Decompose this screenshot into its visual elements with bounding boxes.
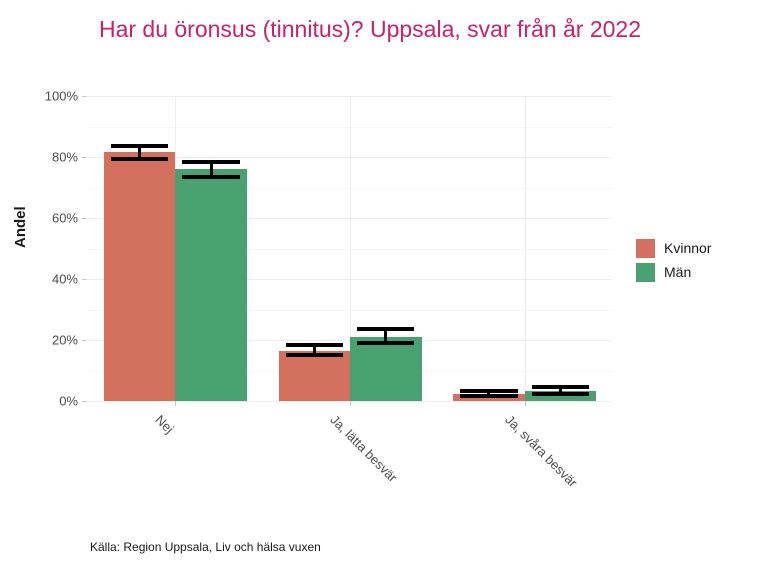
chart-container: Har du öronsus (tinnitus)? Uppsala, svar… (0, 0, 768, 576)
error-bar-cap-upper (532, 385, 589, 389)
chart-legend: Kvinnor Män (636, 236, 711, 284)
error-bar-cap-upper (286, 343, 343, 347)
legend-swatch-kvinnor (636, 239, 655, 258)
gridline-vertical (525, 96, 526, 401)
y-axis-tick-mark (82, 96, 87, 97)
bar[interactable] (279, 351, 351, 401)
error-bar-cap-lower (286, 353, 343, 357)
y-axis-tick-mark (82, 340, 87, 341)
y-axis-tick-label: 40% (18, 272, 78, 287)
error-bar-cap-upper (357, 327, 414, 331)
error-bar-cap-upper (111, 144, 168, 148)
plot-area (88, 96, 612, 401)
x-axis-tick-mark (350, 401, 351, 406)
error-bar-cap-lower (532, 392, 589, 396)
legend-label-man: Män (664, 264, 691, 280)
error-bar-cap-lower (111, 157, 168, 161)
x-axis-tick-label: Ja, lätta besvär (327, 412, 400, 485)
source-caption: Källa: Region Uppsala, Liv och hälsa vux… (90, 540, 321, 554)
y-axis-tick-label: 100% (18, 89, 78, 104)
bar[interactable] (350, 337, 422, 401)
error-bar-cap-lower (182, 175, 239, 179)
y-axis-tick-label: 0% (18, 394, 78, 409)
legend-item-kvinnor[interactable]: Kvinnor (636, 236, 711, 260)
chart-title: Har du öronsus (tinnitus)? Uppsala, svar… (40, 14, 700, 45)
legend-item-man[interactable]: Män (636, 260, 711, 284)
error-bar-cap-upper (182, 160, 239, 164)
legend-label-kvinnor: Kvinnor (664, 240, 711, 256)
bar[interactable] (104, 152, 176, 401)
y-axis-tick-mark (82, 157, 87, 158)
error-bar-cap-lower (460, 394, 517, 398)
y-axis-tick-mark (82, 401, 87, 402)
legend-swatch-man (636, 263, 655, 282)
x-axis-tick-mark (525, 401, 526, 406)
y-axis-tick-label: 80% (18, 150, 78, 165)
error-bar-cap-upper (460, 389, 517, 393)
y-axis-tick-label: 60% (18, 211, 78, 226)
x-axis-tick-mark (175, 401, 176, 406)
y-axis-tick-mark (82, 218, 87, 219)
y-axis-tick-mark (82, 279, 87, 280)
y-axis-tick-label: 20% (18, 333, 78, 348)
x-axis-tick-label: Nej (153, 412, 177, 436)
x-axis-tick-label: Ja, svåra besvär (502, 412, 580, 490)
bar[interactable] (175, 169, 247, 401)
error-bar-cap-lower (357, 341, 414, 345)
